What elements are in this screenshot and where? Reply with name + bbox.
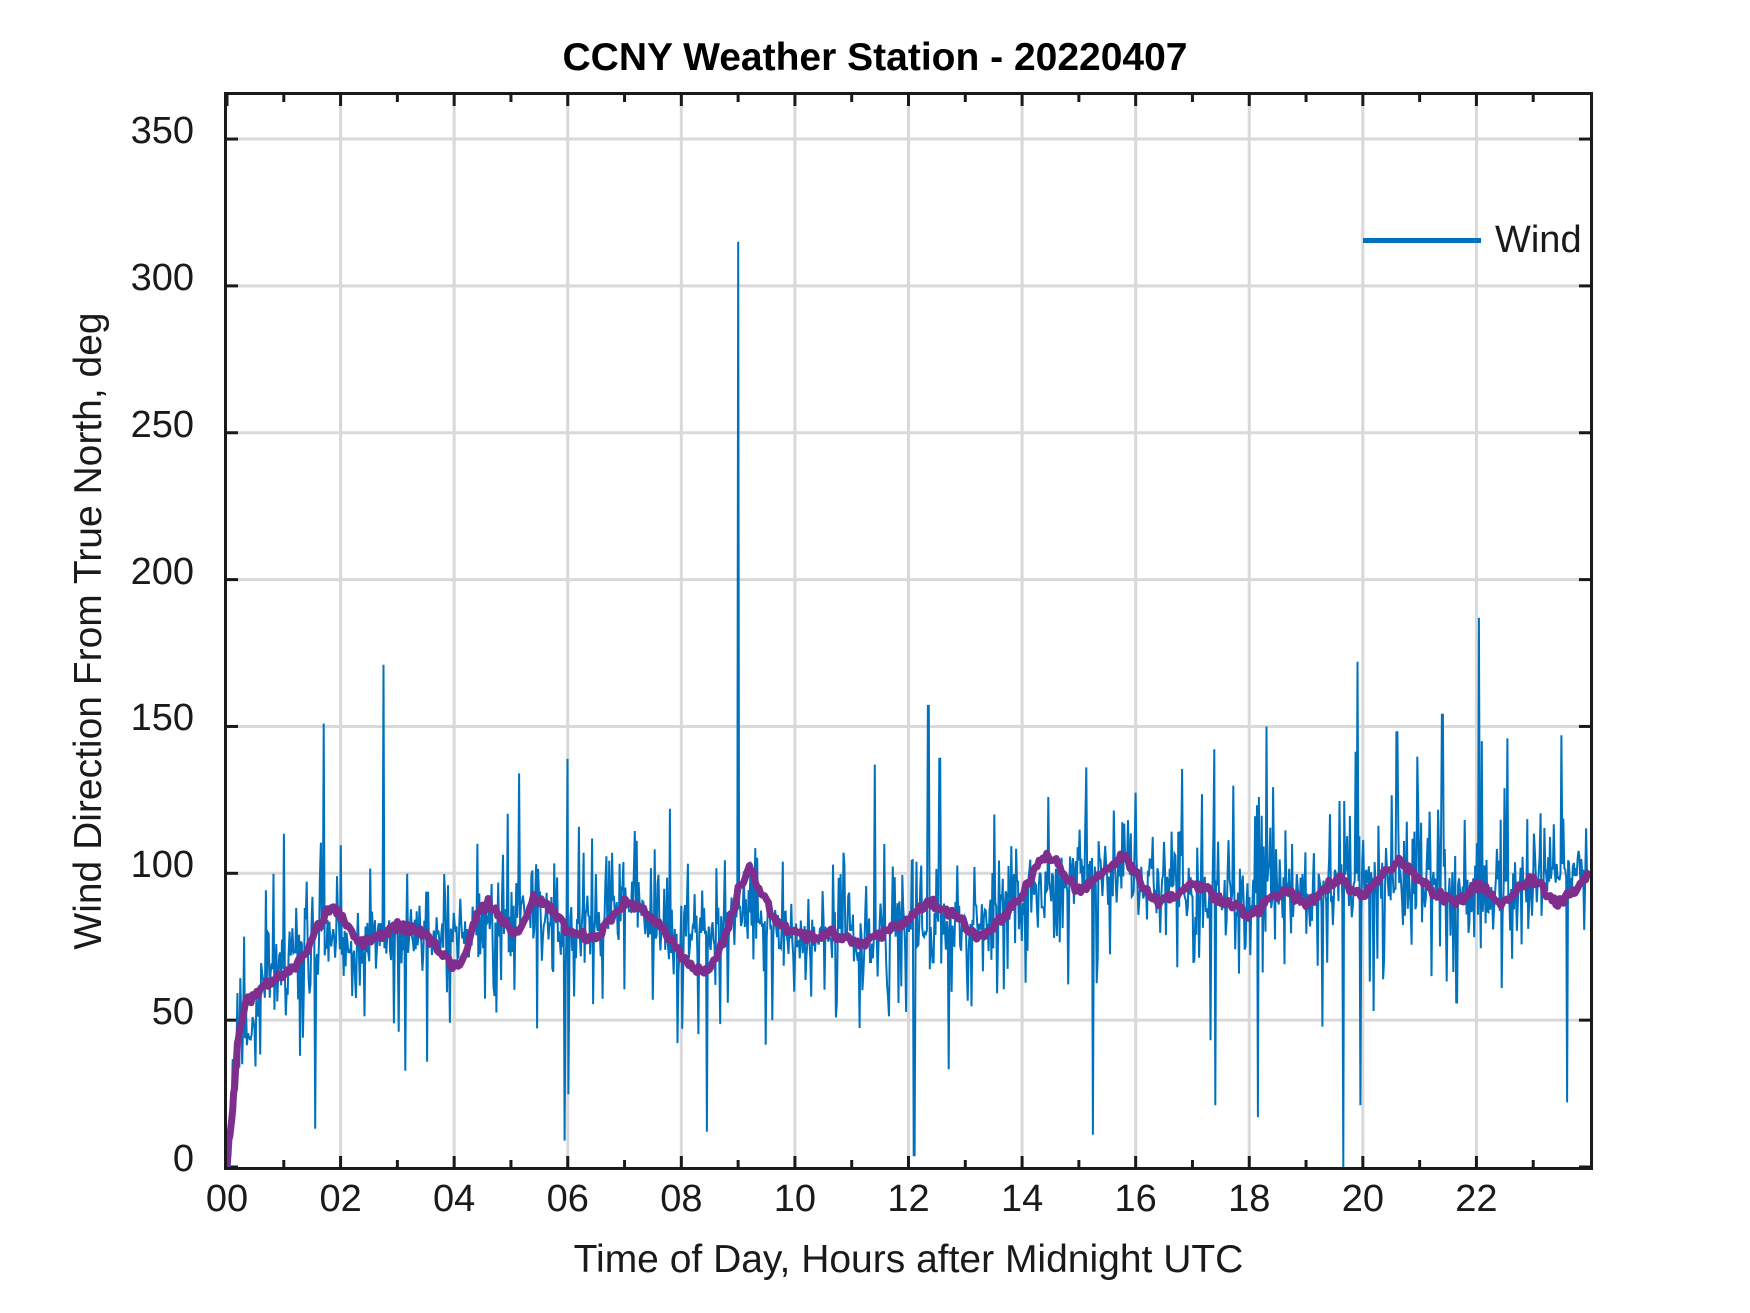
x-axis-label: Time of Day, Hours after Midnight UTC [224,1238,1593,1282]
legend-line-swatch-wind-direction [1363,238,1481,243]
x-axis-tick-labels: 000204060810121416182022 [224,1178,1593,1238]
chart-legend: Wind Direction [1363,207,1593,273]
figure-canvas: CCNY Weather Station - 20220407 Wind Dir… [0,0,1750,1313]
legend-label-wind-direction: Wind Direction [1495,219,1593,262]
page-title: CCNY Weather Station - 20220407 [0,36,1750,80]
plot-area: Wind Direction [224,92,1593,1170]
y-axis-tick-labels: 050100150200250300350 [0,92,208,1170]
